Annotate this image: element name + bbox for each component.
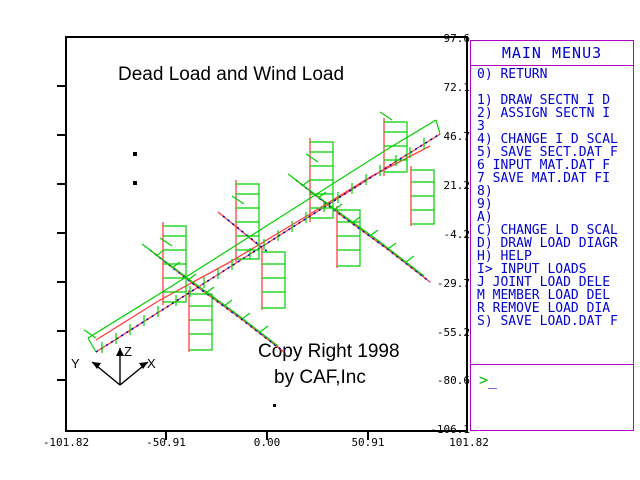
menu-item-8[interactable]: 8): [477, 185, 634, 198]
x-tick-label: 101.82: [429, 437, 509, 448]
menu-item-9[interactable]: 9): [477, 198, 634, 211]
y-tick-label: 46.7: [412, 131, 470, 142]
y-tick-label: 72.1: [412, 82, 470, 93]
y-tick-label: 97.6: [412, 33, 470, 44]
y-tick-label: -106.1: [412, 424, 470, 435]
command-prompt-bar[interactable]: >_: [471, 364, 633, 430]
menu-title: MAIN MENU3: [471, 44, 633, 62]
menu-item-save-mat-dat[interactable]: 7 SAVE MAT.DAT FI: [477, 172, 634, 185]
y-tick-label: -55.2: [412, 327, 470, 338]
copyright-line-1: Copy Right 1998: [258, 341, 400, 363]
command-prompt[interactable]: >_: [479, 371, 497, 389]
axis-triad-label-x: X: [147, 356, 156, 371]
x-tick-label: -50.91: [126, 437, 206, 448]
y-tick-label: 21.2: [412, 180, 470, 191]
plot-title: Dead Load and Wind Load: [118, 64, 344, 86]
prompt-caret: >: [479, 371, 488, 389]
menu-title-bar: MAIN MENU3: [471, 41, 633, 66]
menu-item-return[interactable]: 0) RETURN: [477, 68, 634, 81]
x-tick-label: 50.91: [328, 437, 408, 448]
main-menu-panel: MAIN MENU3 0) RETURN 1) DRAW SECTN I D 2…: [470, 40, 634, 431]
y-tick-label: -29.7: [412, 278, 470, 289]
menu-item-save-load-dat[interactable]: S) SAVE LOAD.DAT F: [477, 315, 634, 328]
axis-triad-label-z: Z: [124, 344, 132, 359]
axis-triad-label-y: Y: [71, 356, 80, 371]
x-tick-label: -101.82: [26, 437, 106, 448]
copyright-line-2: by CAF,Inc: [274, 367, 366, 389]
y-tick-label: -80.6: [412, 375, 470, 386]
menu-item-list: 0) RETURN 1) DRAW SECTN I D 2) ASSIGN SE…: [477, 68, 634, 328]
y-tick-label: -4.2: [412, 229, 470, 240]
plot-panel: 97.6 72.1 46.7 21.2 -4.2 -29.7 -55.2 -80…: [0, 0, 470, 480]
x-tick-label: 0.00: [227, 437, 307, 448]
menu-item-assign-sectn-id[interactable]: 2) ASSIGN SECTN I: [477, 107, 634, 120]
plot-frame: [65, 36, 468, 432]
text-cursor: _: [488, 371, 497, 389]
